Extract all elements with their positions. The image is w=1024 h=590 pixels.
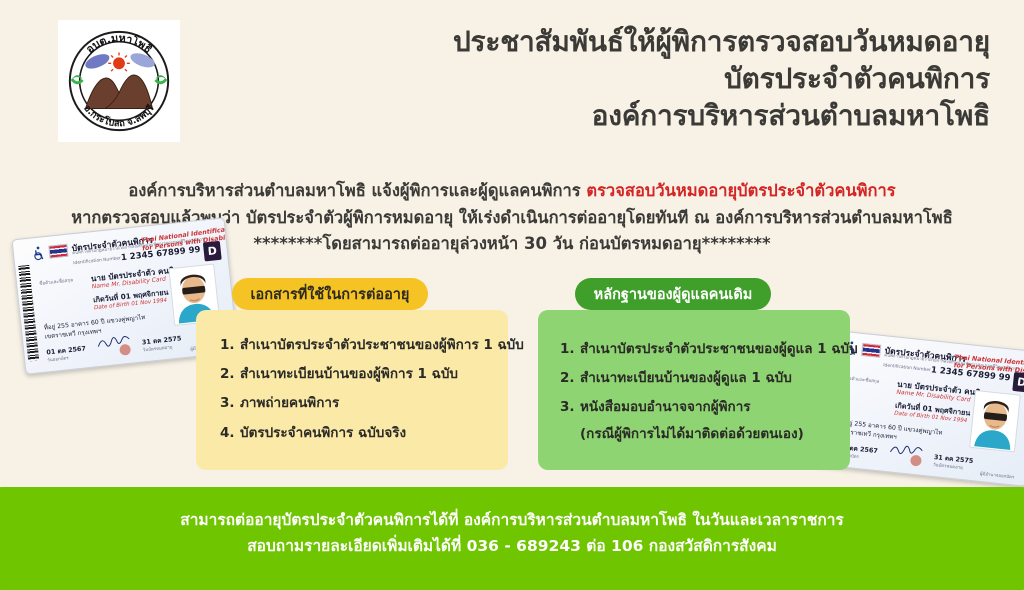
list-item: 4. บัตรประจำคนพิการ ฉบับจริง <box>220 424 494 442</box>
body-line-1: องค์การบริหารส่วนตำบลมหาโพธิ แจ้งผู้พิกา… <box>0 178 1024 205</box>
title-line-3: องค์การบริหารส่วนตำบลมหาโพธิ <box>300 98 990 135</box>
footer-line-2: สอบถามรายละเอียดเพิ่มเติมได้ที่ 036 - 68… <box>247 533 777 559</box>
wheelchair-icon <box>30 245 46 261</box>
list-item-label: หนังสือมอบอำนาจจากผู้พิการ <box>580 398 751 416</box>
list-item-label: สำเนาบัตรประจำตัวประชาชนของผู้ดูแล 1 ฉบั… <box>580 340 858 358</box>
organization-logo: อบต.มหาโพธิ อ.กระโบสถ จ.ลพบุรี <box>58 20 180 142</box>
body-line-1-plain: องค์การบริหารส่วนตำบลมหาโพธิ แจ้งผู้พิกา… <box>128 181 586 200</box>
official-seal-stamp <box>119 344 131 356</box>
renewal-documents-list: 1. สำเนาบัตรประจำตัวประชาชนของผู้พิการ 1… <box>196 310 508 453</box>
list-item-number: 4. <box>220 424 240 442</box>
card-officer-label: ผู้มีอำนาจออกบัตร <box>980 470 1015 481</box>
renewal-documents-badge: เอกสารที่ใช้ในการต่ออายุ <box>232 278 428 310</box>
contact-footer: สามารถต่ออายุบัตรประจำตัวคนพิการได้ที่ อ… <box>0 487 1024 590</box>
list-item-number: 2. <box>220 365 240 383</box>
thai-flag-icon <box>48 244 68 259</box>
list-item-label: ภาพถ่ายคนพิการ <box>240 394 339 412</box>
list-item: 1. สำเนาบัตรประจำตัวประชาชนของผู้พิการ 1… <box>220 336 494 354</box>
caregiver-documents-panel: 1. สำเนาบัตรประจำตัวประชาชนของผู้ดูแล 1 … <box>538 310 850 470</box>
list-item: 3. ภาพถ่ายคนพิการ <box>220 394 494 412</box>
list-item: 3. หนังสือมอบอำนาจจากผู้พิการ <box>560 398 836 416</box>
list-item-number: 2. <box>560 369 580 387</box>
card-name-label: ชื่อตัวและชื่อสกุล <box>39 277 74 288</box>
card-name-label: ชื่อตัวและชื่อสกุล <box>845 375 880 386</box>
body-line-1-highlight: ตรวจสอบวันหมดอายุบัตรประจำตัวคนพิการ <box>586 181 895 200</box>
list-item: 1. สำเนาบัตรประจำตัวประชาชนของผู้ดูแล 1 … <box>560 340 836 358</box>
list-item-label: สำเนาทะเบียนบ้านของผู้ดูแล 1 ฉบับ <box>580 369 792 387</box>
card-id-label: Identification Number <box>73 256 121 266</box>
thai-flag-icon <box>861 343 881 358</box>
card-issue-label: วันออกบัตร <box>47 354 69 363</box>
list-item-number: 3. <box>220 394 240 412</box>
list-item: 2. สำเนาทะเบียนบ้านของผู้พิการ 1 ฉบับ <box>220 365 494 383</box>
title-line-1: ประชาสัมพันธ์ให้ผู้พิการตรวจสอบวันหมดอาย… <box>300 24 990 61</box>
barcode-icon <box>18 265 39 362</box>
card-id-label: Identification Number <box>883 363 931 373</box>
list-item-label: สำเนาทะเบียนบ้านของผู้พิการ 1 ฉบับ <box>240 365 458 383</box>
list-item-label: บัตรประจำคนพิการ ฉบับจริง <box>240 424 406 442</box>
renewal-documents-panel: 1. สำเนาบัตรประจำตัวประชาชนของผู้พิการ 1… <box>196 310 508 470</box>
page-title: ประชาสัมพันธ์ให้ผู้พิการตรวจสอบวันหมดอาย… <box>300 24 990 135</box>
footer-line-1: สามารถต่ออายุบัตรประจำตัวคนพิการได้ที่ อ… <box>180 507 844 533</box>
list-item: 2. สำเนาทะเบียนบ้านของผู้ดูแล 1 ฉบับ <box>560 369 836 387</box>
caregiver-documents-badge: หลักฐานของผู้ดูแลคนเดิม <box>575 278 771 310</box>
municipality-seal-icon: อบต.มหาโพธิ อ.กระโบสถ จ.ลพบุรี <box>60 22 178 140</box>
list-item-number: 3. <box>560 398 580 416</box>
official-seal-stamp <box>910 455 922 467</box>
card-portrait-photo <box>969 390 1021 452</box>
list-item-number: 1. <box>560 340 580 358</box>
list-item-label: สำเนาบัตรประจำตัวประชาชนของผู้พิการ 1 ฉบ… <box>240 336 524 354</box>
title-line-2: บัตรประจำตัวคนพิการ <box>300 61 990 98</box>
caregiver-documents-list: 1. สำเนาบัตรประจำตัวประชาชนของผู้ดูแล 1 … <box>538 310 850 444</box>
list-item-number: 1. <box>220 336 240 354</box>
caregiver-note: (กรณีผู้พิการไม่ได้มาติดต่อด้วยตนเอง) <box>580 422 836 444</box>
portrait-avatar-icon <box>970 391 1020 451</box>
